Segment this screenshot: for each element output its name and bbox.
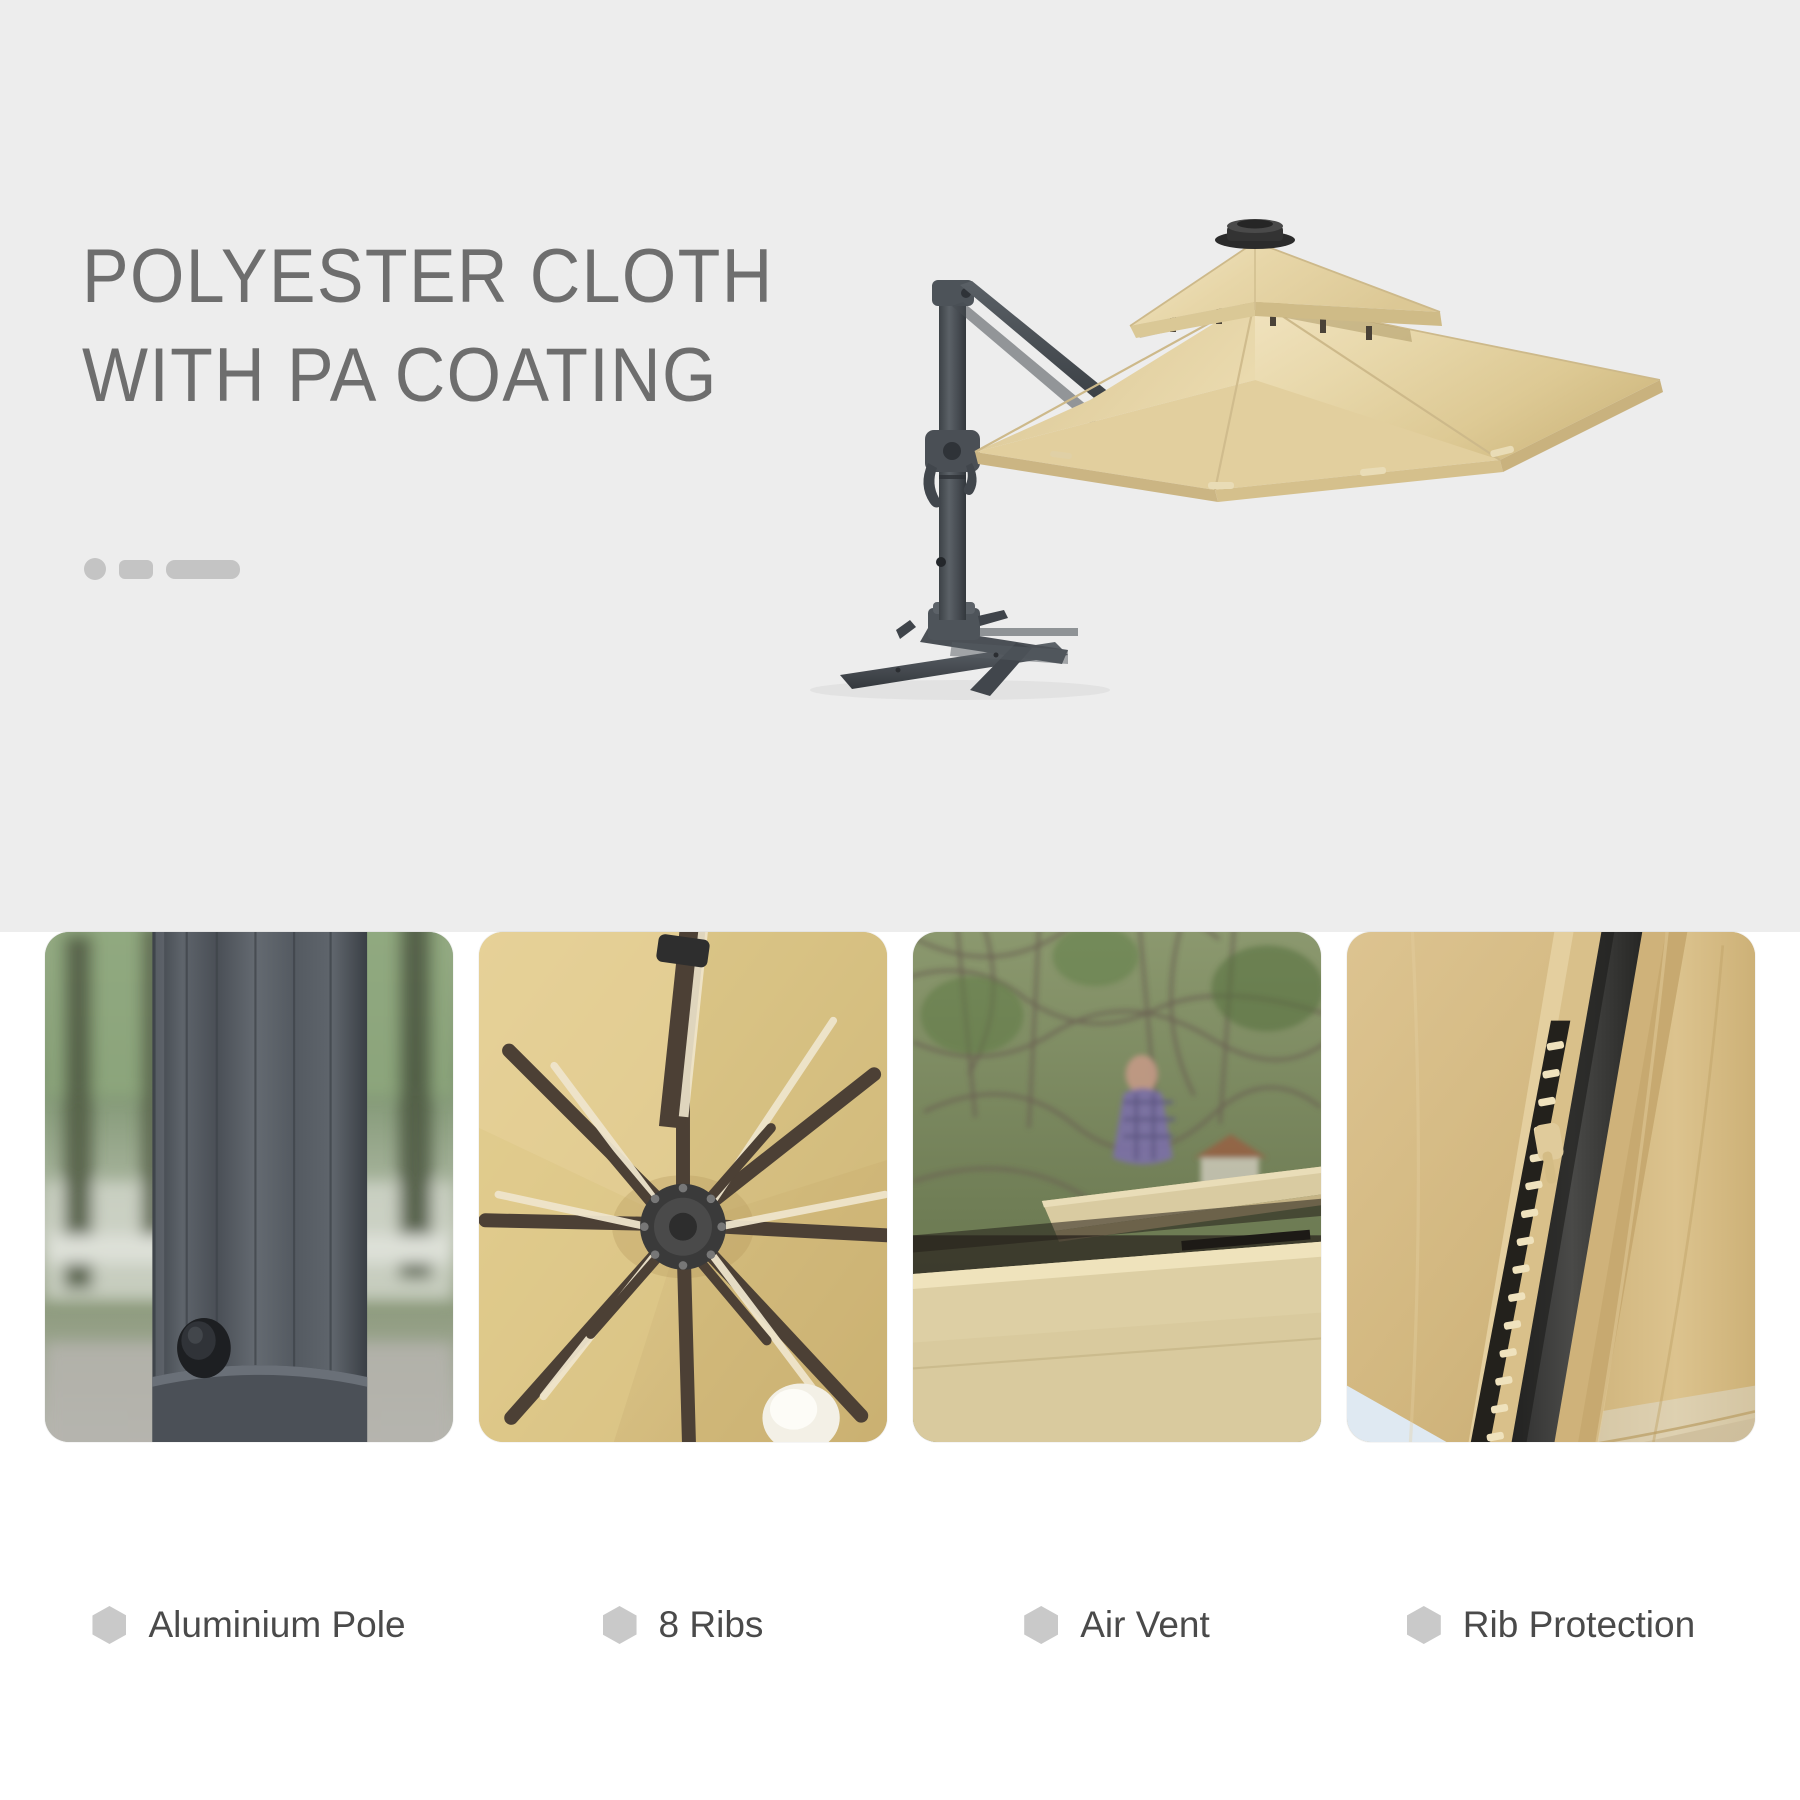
- caption-aluminium-pole: Aluminium Pole: [32, 1560, 466, 1690]
- feature-caption-row: Aluminium Pole 8 Ribs Air Vent Rib Prote…: [0, 1560, 1800, 1690]
- feature-card-air-vent[interactable]: [900, 932, 1334, 1492]
- caption-rib-protection: Rib Protection: [1334, 1560, 1768, 1690]
- deco-long-dash-icon: [166, 560, 240, 579]
- caption-label: Aluminium Pole: [148, 1604, 405, 1646]
- feature-card-rib-protection[interactable]: [1334, 932, 1768, 1492]
- umbrella-solar-led-cap: [1215, 219, 1295, 249]
- hexagon-bullet-icon: [1024, 1606, 1058, 1644]
- deco-short-dash-icon: [119, 560, 153, 579]
- product-image-cantilever-umbrella: [800, 130, 1680, 750]
- hexagon-bullet-icon: [1407, 1606, 1441, 1644]
- caption-air-vent: Air Vent: [900, 1560, 1334, 1690]
- hexagon-bullet-icon: [92, 1606, 126, 1644]
- feature-thumbnail-row: [0, 932, 1800, 1492]
- hero-section: POLYESTER CLOTH WITH PA COATING: [0, 0, 1800, 932]
- caption-label: Rib Protection: [1463, 1604, 1695, 1646]
- feature-card-8-ribs[interactable]: [466, 932, 900, 1492]
- feature-image-aluminium-pole: [45, 932, 453, 1442]
- feature-image-8-ribs: [479, 932, 887, 1442]
- infographic-page: POLYESTER CLOTH WITH PA COATING: [0, 0, 1800, 1800]
- feature-image-rib-protection: [1347, 932, 1755, 1442]
- decorative-dash-group: [84, 558, 240, 580]
- hexagon-bullet-icon: [603, 1606, 637, 1644]
- feature-card-aluminium-pole[interactable]: [32, 932, 466, 1492]
- caption-label: Air Vent: [1080, 1604, 1210, 1646]
- caption-8-ribs: 8 Ribs: [466, 1560, 900, 1690]
- feature-image-air-vent: [913, 932, 1321, 1442]
- page-title: POLYESTER CLOTH WITH PA COATING: [82, 228, 910, 426]
- caption-label: 8 Ribs: [659, 1604, 764, 1646]
- deco-dot-icon: [84, 558, 106, 580]
